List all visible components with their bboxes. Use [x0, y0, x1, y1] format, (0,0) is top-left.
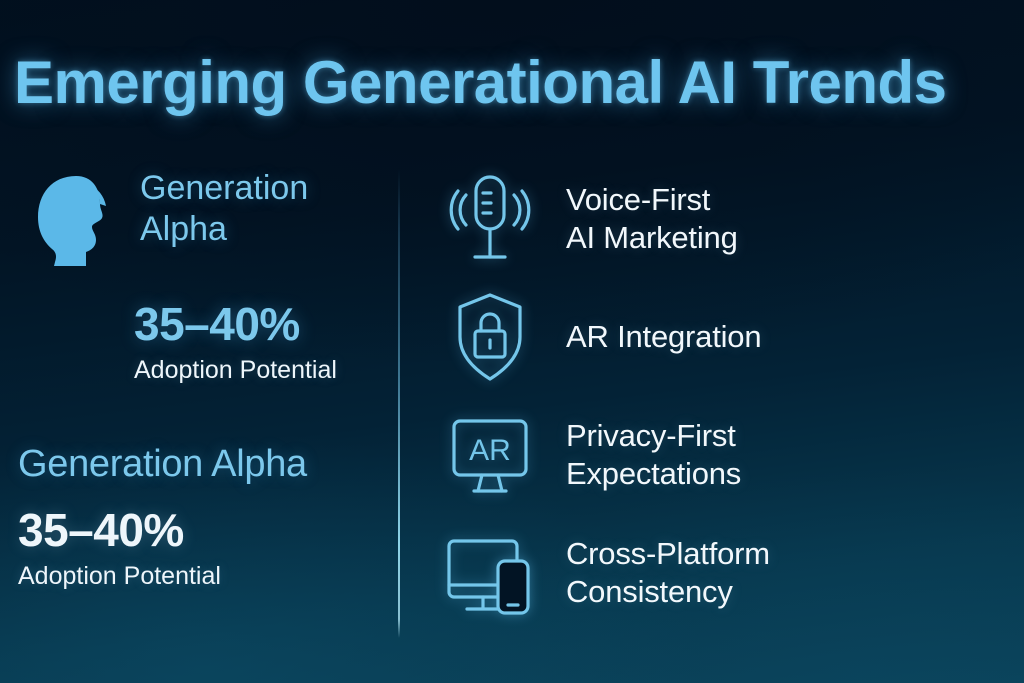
trend-label-line2: AI Marketing	[566, 220, 738, 255]
trend-item: AR Integration	[440, 278, 1010, 396]
adoption-stat-value: 35–40%	[134, 300, 380, 348]
monitor-phone-icon	[440, 523, 540, 623]
column-divider	[398, 168, 400, 638]
slide-canvas: Emerging Generational AI Trends Generati…	[0, 0, 1024, 683]
trend-label: Privacy-First Expectations	[566, 417, 741, 493]
generation-alpha-heading-row: Generation Alpha	[30, 168, 380, 270]
left-column: Generation Alpha 35–40% Adoption Potenti…	[0, 0, 398, 683]
right-column-trends: Voice-First AI Marketing AR Integration	[440, 160, 1010, 632]
trend-item: Voice-First AI Marketing	[440, 160, 1010, 278]
generation-alpha-title-line1: Generation	[140, 169, 308, 207]
trend-label: AR Integration	[566, 318, 761, 356]
trend-label-line2: Expectations	[566, 456, 741, 491]
trend-item: AR Privacy-First Expectations	[440, 396, 1010, 514]
shield-lock-icon	[440, 287, 540, 387]
ar-monitor-icon-text: AR	[469, 434, 511, 467]
trend-label-line1: Privacy-First	[566, 418, 736, 453]
trend-label-line2: Consistency	[566, 574, 733, 609]
generation-alpha-title-line2: Alpha	[140, 210, 227, 248]
adoption-stat-caption-repeat: Adoption Potential	[18, 562, 398, 591]
generation-alpha-stat: 35–40% Adoption Potential	[134, 300, 380, 385]
trend-label-line1: Voice-First	[566, 182, 710, 217]
generation-alpha-block-repeat: Generation Alpha 35–40% Adoption Potenti…	[18, 443, 398, 591]
trend-item: Cross-Platform Consistency	[440, 514, 1010, 632]
adoption-stat-value-repeat: 35–40%	[18, 506, 398, 554]
generation-alpha-title-repeat: Generation Alpha	[18, 443, 398, 486]
microphone-icon	[440, 169, 540, 269]
trend-label-line1: Cross-Platform	[566, 536, 770, 571]
trend-label: Cross-Platform Consistency	[566, 535, 770, 611]
generation-alpha-title: Generation Alpha	[140, 168, 308, 250]
ar-monitor-icon: AR	[440, 405, 540, 505]
generation-alpha-block: Generation Alpha 35–40% Adoption Potenti…	[30, 168, 380, 385]
adoption-stat-caption: Adoption Potential	[134, 356, 380, 385]
head-profile-icon	[30, 170, 122, 270]
trend-label: Voice-First AI Marketing	[566, 181, 738, 257]
